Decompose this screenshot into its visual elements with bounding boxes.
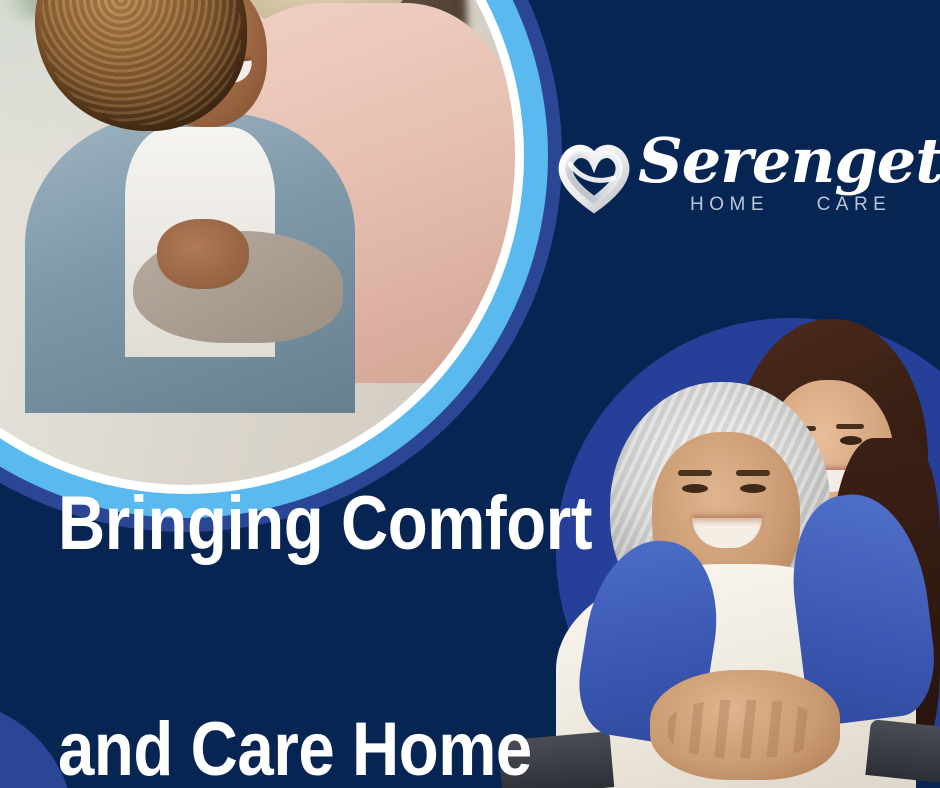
brand-wordmark: Serengeti: [638, 130, 940, 192]
brand-tagline: HOME CARE: [690, 194, 891, 216]
headline: Bringing Comfort and Care Home for All A…: [58, 336, 540, 788]
top-photo-joined-hands: [157, 219, 249, 289]
headline-line-1: Bringing Comfort: [58, 486, 540, 561]
bottom-photo-wheelchair-armrest-right: [865, 719, 940, 785]
poster-canvas: Bringing Comfort and Care Home for All A…: [0, 0, 940, 788]
brand-logo: Serengeti HOME CARE: [556, 132, 876, 232]
headline-line-2: and Care Home: [58, 712, 540, 787]
bottom-photo-clasped-hands: [650, 670, 840, 780]
bottom-photo-senior-eye-left: [682, 484, 708, 493]
bottom-photo-senior-eye-right: [740, 484, 766, 493]
brand-tagline-care: CARE: [817, 194, 892, 215]
bottom-photo-daughter-eye-right: [840, 436, 862, 445]
bottom-photo-senior-brow-left: [678, 470, 712, 476]
ribbon-heart-icon: [556, 138, 632, 214]
bottom-photo-daughter-brow-right: [836, 424, 864, 429]
bottom-photo-senior-brow-right: [736, 470, 770, 476]
brand-tagline-home: HOME: [690, 194, 769, 215]
